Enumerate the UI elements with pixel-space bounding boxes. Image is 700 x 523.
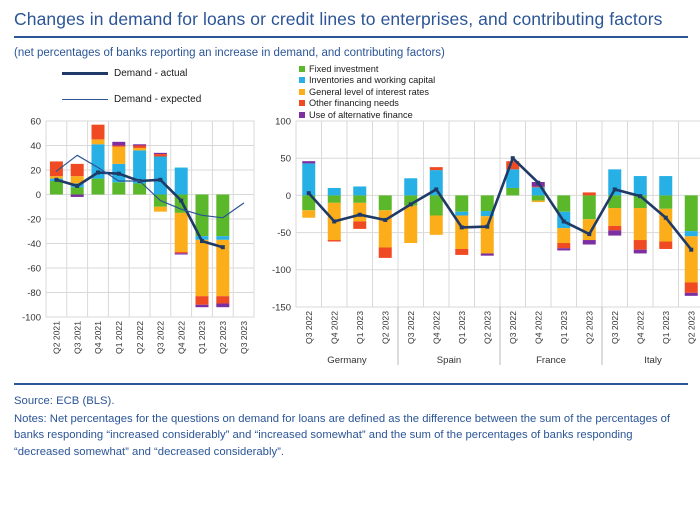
bar-segment xyxy=(112,146,125,147)
bar-segment xyxy=(92,179,105,195)
bar-segment xyxy=(557,243,570,248)
y-axis-tick: 60 xyxy=(30,116,41,127)
x-axis-tick: Q3 2022 xyxy=(406,311,416,344)
bar-segment xyxy=(154,154,167,156)
bar-segment xyxy=(532,201,545,202)
chart-countries: 100500-50-100-150Q3 2022Q4 2022Q1 2023Q2… xyxy=(260,111,700,384)
y-axis-tick: 50 xyxy=(280,154,291,165)
svg-text:Q1 2023: Q1 2023 xyxy=(661,311,671,344)
x-axis-tick: Q3 2022 xyxy=(156,321,166,354)
line-marker xyxy=(75,184,79,188)
bar-segment xyxy=(175,252,188,253)
bar-segment xyxy=(302,210,315,217)
y-axis-tick: -150 xyxy=(272,302,291,313)
x-axis-tick: Q1 2023 xyxy=(661,311,671,344)
y-axis-tick: -80 xyxy=(27,288,41,299)
x-axis-tick: Q4 2022 xyxy=(534,311,544,344)
bar-segment xyxy=(50,181,63,194)
legend-label: Demand - expected xyxy=(114,94,201,105)
bar-segment xyxy=(112,147,125,164)
y-axis-tick: 40 xyxy=(30,141,41,152)
line-marker xyxy=(221,245,225,249)
color-swatch-icon xyxy=(299,77,305,83)
chart-euro-area: 6040200-20-40-60-80-100Q2 2021Q3 2021Q4 … xyxy=(10,111,260,384)
bar-segment xyxy=(112,182,125,194)
bar-segment xyxy=(353,203,366,222)
svg-text:Q1 2023: Q1 2023 xyxy=(457,311,467,344)
line-marker xyxy=(200,239,204,243)
line-marker xyxy=(307,191,311,195)
bar-segment xyxy=(430,167,443,170)
svg-text:Q2 2023: Q2 2023 xyxy=(585,311,595,344)
bar-segment xyxy=(532,186,545,187)
svg-text:Q1 2023: Q1 2023 xyxy=(559,311,569,344)
bar-segment xyxy=(196,240,209,296)
y-axis-tick: 100 xyxy=(275,116,291,127)
bar-segment xyxy=(133,144,146,145)
color-swatch-icon xyxy=(299,100,305,106)
line-marker xyxy=(158,178,162,182)
x-axis-tick: Q4 2022 xyxy=(432,311,442,344)
group-label: Spain xyxy=(437,355,462,366)
bar-segment xyxy=(455,195,468,211)
bar-segment xyxy=(216,236,229,240)
svg-text:Q3 2022: Q3 2022 xyxy=(508,311,518,344)
bar-segment xyxy=(685,231,698,236)
svg-text:Q3 2022: Q3 2022 xyxy=(406,311,416,344)
x-axis-tick: Q2 2023 xyxy=(218,321,228,354)
group-label: Italy xyxy=(644,355,662,366)
svg-text:Q1 2022: Q1 2022 xyxy=(114,321,124,354)
line-marker xyxy=(511,156,515,160)
line-marker xyxy=(179,199,183,203)
bar-segment xyxy=(175,213,188,252)
svg-text:Q2 2022: Q2 2022 xyxy=(135,321,145,354)
bar-segment xyxy=(685,195,698,231)
bar-segment xyxy=(659,242,672,249)
legend-lines: Demand - actual Demand - expected xyxy=(62,65,201,117)
bar-segment xyxy=(353,221,366,228)
bar-segment xyxy=(481,216,494,253)
y-axis-tick: -60 xyxy=(27,263,41,274)
x-axis-tick: Q1 2023 xyxy=(197,321,207,354)
y-axis-tick: 20 xyxy=(30,165,41,176)
bar-segment xyxy=(583,240,596,244)
line-marker xyxy=(117,172,121,176)
color-swatch-icon xyxy=(299,66,305,72)
svg-text:Q3 2023: Q3 2023 xyxy=(239,321,249,354)
legend-item-demand-actual: Demand - actual xyxy=(62,65,201,82)
y-axis-tick: -40 xyxy=(27,239,41,250)
svg-text:Q2 2023: Q2 2023 xyxy=(218,321,228,354)
bar-segment xyxy=(481,195,494,211)
x-axis-tick: Q2 2021 xyxy=(52,321,62,354)
bar-segment xyxy=(353,195,366,202)
bar-segment xyxy=(583,219,596,240)
line-marker xyxy=(562,219,566,223)
svg-text:Q2 2021: Q2 2021 xyxy=(52,321,62,354)
x-axis-tick: Q2 2023 xyxy=(687,311,697,344)
line-marker xyxy=(358,213,362,217)
bar-segment xyxy=(71,187,84,194)
x-axis-tick: Q3 2021 xyxy=(72,321,82,354)
legend-item-general-level-of-interest-rates: General level of interest rates xyxy=(299,86,435,98)
bar-segment xyxy=(532,195,545,200)
line-marker xyxy=(434,187,438,191)
svg-text:Q2 2023: Q2 2023 xyxy=(381,311,391,344)
svg-text:Q2 2023: Q2 2023 xyxy=(687,311,697,344)
line-marker xyxy=(383,218,387,222)
bar-segment xyxy=(404,206,417,243)
line-marker xyxy=(613,187,617,191)
line-marker xyxy=(96,170,100,174)
x-axis-tick: Q1 2023 xyxy=(457,311,467,344)
bar-segment xyxy=(50,161,63,176)
bar-segment xyxy=(557,228,570,243)
bar-segment xyxy=(302,161,315,163)
x-axis-tick: Q1 2022 xyxy=(114,321,124,354)
bar-segment xyxy=(216,304,229,308)
bar-segment xyxy=(133,148,146,150)
bar-segment xyxy=(583,195,596,219)
x-axis-tick: Q2 2023 xyxy=(483,311,493,344)
legend-item-fixed-investment: Fixed investment xyxy=(299,63,435,75)
x-axis-tick: Q4 2022 xyxy=(330,311,340,344)
line-marker xyxy=(409,202,413,206)
bar-segment xyxy=(92,125,105,140)
y-axis-tick: 0 xyxy=(286,191,291,202)
countries-chart-svg: 100500-50-100-150Q3 2022Q4 2022Q1 2023Q2… xyxy=(260,111,700,379)
legend: Demand - actual Demand - expected Fixed … xyxy=(10,63,690,111)
x-axis-tick: Q3 2022 xyxy=(610,311,620,344)
bar-segment xyxy=(92,139,105,144)
svg-text:Q1 2023: Q1 2023 xyxy=(197,321,207,354)
x-axis-tick: Q2 2022 xyxy=(135,321,145,354)
svg-text:Q4 2022: Q4 2022 xyxy=(534,311,544,344)
svg-text:Q3 2022: Q3 2022 xyxy=(610,311,620,344)
bar-segment xyxy=(608,226,621,230)
footer: Source: ECB (BLS). Notes: Net percentage… xyxy=(10,385,690,460)
bar-segment xyxy=(608,208,621,226)
legend-label: Other financing needs xyxy=(309,98,399,108)
bar-segment xyxy=(404,178,417,195)
bar-segment xyxy=(634,176,647,195)
bar-segment xyxy=(634,240,647,250)
svg-text:Q4 2022: Q4 2022 xyxy=(636,311,646,344)
legend-label: Fixed investment xyxy=(309,64,378,74)
line-marker xyxy=(485,225,489,229)
line-marker xyxy=(54,178,58,182)
line-swatch-icon xyxy=(62,72,108,75)
bar-segment xyxy=(328,195,341,202)
x-axis-tick: Q3 2022 xyxy=(508,311,518,344)
x-axis-tick: Q2 2023 xyxy=(585,311,595,344)
bar-segment xyxy=(455,212,468,216)
bar-segment xyxy=(557,195,570,211)
source-text: Source: ECB (BLS). xyxy=(14,393,684,410)
svg-text:Q1 2023: Q1 2023 xyxy=(355,311,365,344)
line-marker xyxy=(664,216,668,220)
figure-page: Changes in demand for loans or credit li… xyxy=(0,0,700,523)
legend-label: Demand - actual xyxy=(114,68,187,79)
bar-segment xyxy=(634,208,647,240)
x-axis-tick: Q4 2021 xyxy=(93,321,103,354)
bar-segment xyxy=(659,195,672,208)
bar-segment xyxy=(685,293,698,296)
bar-segment xyxy=(71,195,84,197)
bar-segment xyxy=(175,168,188,195)
svg-text:Q2 2023: Q2 2023 xyxy=(483,311,493,344)
svg-text:Q4 2022: Q4 2022 xyxy=(432,311,442,344)
svg-text:Q3 2022: Q3 2022 xyxy=(304,311,314,344)
legend-item-inventories-and-working-capital: Inventories and working capital xyxy=(299,75,435,87)
bar-segment xyxy=(302,163,315,195)
x-axis-tick: Q3 2022 xyxy=(304,311,314,344)
bar-segment xyxy=(608,230,621,235)
bar-segment xyxy=(557,248,570,250)
group-label: France xyxy=(536,355,566,366)
legend-label: General level of interest rates xyxy=(309,87,429,97)
x-axis-tick: Q3 2023 xyxy=(239,321,249,354)
x-axis-tick: Q4 2022 xyxy=(176,321,186,354)
bar-segment xyxy=(328,240,341,241)
line-marker xyxy=(638,194,642,198)
line-marker xyxy=(460,225,464,229)
line-marker xyxy=(332,219,336,223)
bar-segment xyxy=(133,146,146,148)
y-axis-tick: -100 xyxy=(22,312,41,323)
bar-segment xyxy=(455,249,468,255)
bar-segment xyxy=(216,195,229,237)
y-axis-tick: -20 xyxy=(27,214,41,225)
line-marker xyxy=(536,181,540,185)
svg-text:Q4 2022: Q4 2022 xyxy=(176,321,186,354)
bar-segment xyxy=(154,157,167,195)
bar-segment xyxy=(71,164,84,176)
euro-area-chart-svg: 6040200-20-40-60-80-100Q2 2021Q3 2021Q4 … xyxy=(10,111,260,379)
notes-text: Notes: Net percentages for the questions… xyxy=(14,411,684,461)
legend-item-other-financing-needs: Other financing needs xyxy=(299,98,435,110)
y-axis-tick: -50 xyxy=(277,228,291,239)
page-subtitle: (net percentages of banks reporting an i… xyxy=(10,38,690,59)
bar-segment xyxy=(328,188,341,195)
bar-segment xyxy=(154,153,167,154)
x-axis-tick: Q1 2023 xyxy=(355,311,365,344)
charts-area: 6040200-20-40-60-80-100Q2 2021Q3 2021Q4 … xyxy=(10,111,690,379)
color-swatch-icon xyxy=(299,89,305,95)
x-axis-tick: Q2 2023 xyxy=(381,311,391,344)
bar-segment xyxy=(154,207,167,212)
x-axis-tick: Q1 2023 xyxy=(559,311,569,344)
bar-segment xyxy=(216,296,229,303)
bar-segment xyxy=(506,188,519,195)
svg-text:Q3 2021: Q3 2021 xyxy=(72,321,82,354)
svg-text:Q3 2022: Q3 2022 xyxy=(156,321,166,354)
bar-segment xyxy=(196,305,209,307)
line-marker xyxy=(587,232,591,236)
svg-text:Q4 2022: Q4 2022 xyxy=(330,311,340,344)
x-axis-tick: Q4 2022 xyxy=(636,311,646,344)
bar-segment xyxy=(685,282,698,292)
bar-segment xyxy=(112,142,125,146)
legend-item-demand-expected: Demand - expected xyxy=(62,91,201,108)
bar-segment xyxy=(634,250,647,254)
group-label: Germany xyxy=(327,355,367,366)
bar-segment xyxy=(379,247,392,257)
bar-segment xyxy=(481,253,494,255)
line-swatch-icon xyxy=(62,99,108,100)
page-title: Changes in demand for loans or credit li… xyxy=(10,0,690,30)
line-marker xyxy=(689,248,693,252)
svg-text:Q4 2021: Q4 2021 xyxy=(93,321,103,354)
bar-segment xyxy=(196,296,209,305)
bar-segment xyxy=(379,195,392,210)
bar-segment xyxy=(353,186,366,195)
bar-segment xyxy=(583,192,596,195)
y-axis-tick: 0 xyxy=(36,190,41,201)
bar-segment xyxy=(430,215,443,234)
legend-label: Inventories and working capital xyxy=(309,75,435,85)
bar-segment xyxy=(175,253,188,254)
bar-segment xyxy=(659,176,672,195)
y-axis-tick: -100 xyxy=(272,265,291,276)
